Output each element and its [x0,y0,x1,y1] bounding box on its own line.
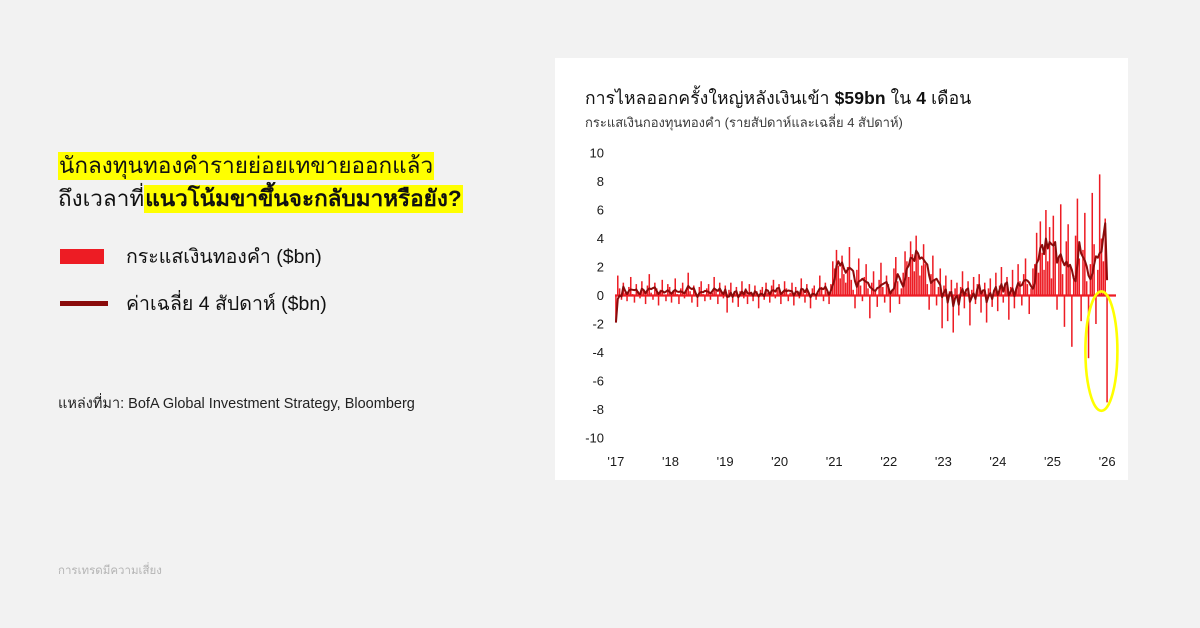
slide-root: นักลงทุนทองคำรายย่อยเทขายออกแล้ว ถึงเวลา… [0,0,1200,628]
annotation-ellipse [1085,291,1117,410]
svg-text:-8: -8 [592,402,604,417]
svg-text:10: 10 [590,146,604,161]
svg-text:-6: -6 [592,374,604,389]
svg-text:4: 4 [597,231,604,246]
chart-card: การไหลออกครั้งใหญ่หลังเงินเข้า $59bn ใน … [555,58,1128,480]
svg-text:0: 0 [597,288,604,303]
svg-text:'21: '21 [826,454,843,469]
legend-item-average: ค่าเฉลี่ย 4 สัปดาห์ ($bn) [60,283,500,323]
legend-bar-swatch-icon [60,249,104,264]
plot-area: 1086420-2-4-6-8-10'17'18'19'20'21'22'23'… [555,58,1128,480]
svg-text:'19: '19 [717,454,734,469]
svg-text:-10: -10 [585,431,604,446]
legend-swatch-flow-wrap [60,249,118,264]
flows-chart-svg: 1086420-2-4-6-8-10'17'18'19'20'21'22'23'… [555,58,1128,480]
svg-text:-2: -2 [592,317,604,332]
svg-text:'17: '17 [607,454,624,469]
svg-text:8: 8 [597,174,604,189]
legend-label-flow: กระแสเงินทองคำ ($bn) [126,241,322,272]
headline-line-1-highlight: นักลงทุนทองคำรายย่อยเทขายออกแล้ว [58,152,434,180]
headline-line-2-plain: ถึงเวลาที่ [58,186,144,211]
svg-text:'22: '22 [880,454,897,469]
svg-text:'23: '23 [935,454,952,469]
legend-item-flow: กระแสเงินทองคำ ($bn) [60,236,500,276]
svg-text:'24: '24 [989,454,1006,469]
svg-text:2: 2 [597,260,604,275]
left-panel: นักลงทุนทองคำรายย่อยเทขายออกแล้ว ถึงเวลา… [0,0,555,628]
svg-text:'26: '26 [1099,454,1116,469]
svg-text:'25: '25 [1044,454,1061,469]
svg-text:6: 6 [597,203,604,218]
svg-text:-4: -4 [592,345,604,360]
svg-text:'20: '20 [771,454,788,469]
headline-line-1: นักลงทุนทองคำรายย่อยเทขายออกแล้ว [58,150,528,181]
svg-text:'18: '18 [662,454,679,469]
legend-line-swatch-icon [60,301,108,306]
legend-label-average: ค่าเฉลี่ย 4 สัปดาห์ ($bn) [126,288,327,319]
headline: นักลงทุนทองคำรายย่อยเทขายออกแล้ว ถึงเวลา… [58,150,528,214]
legend-swatch-average-wrap [60,301,118,306]
headline-line-2-highlight: แนวโน้มขาขึ้นจะกลับมาหรือยัง? [144,185,462,213]
headline-line-2: ถึงเวลาที่แนวโน้มขาขึ้นจะกลับมาหรือยัง? [58,183,528,214]
source-note: แหล่งที่มา: BofA Global Investment Strat… [58,392,415,415]
risk-disclaimer: การเทรดมีความเสี่ยง [58,562,162,580]
legend: กระแสเงินทองคำ ($bn) ค่าเฉลี่ย 4 สัปดาห์… [60,236,500,323]
